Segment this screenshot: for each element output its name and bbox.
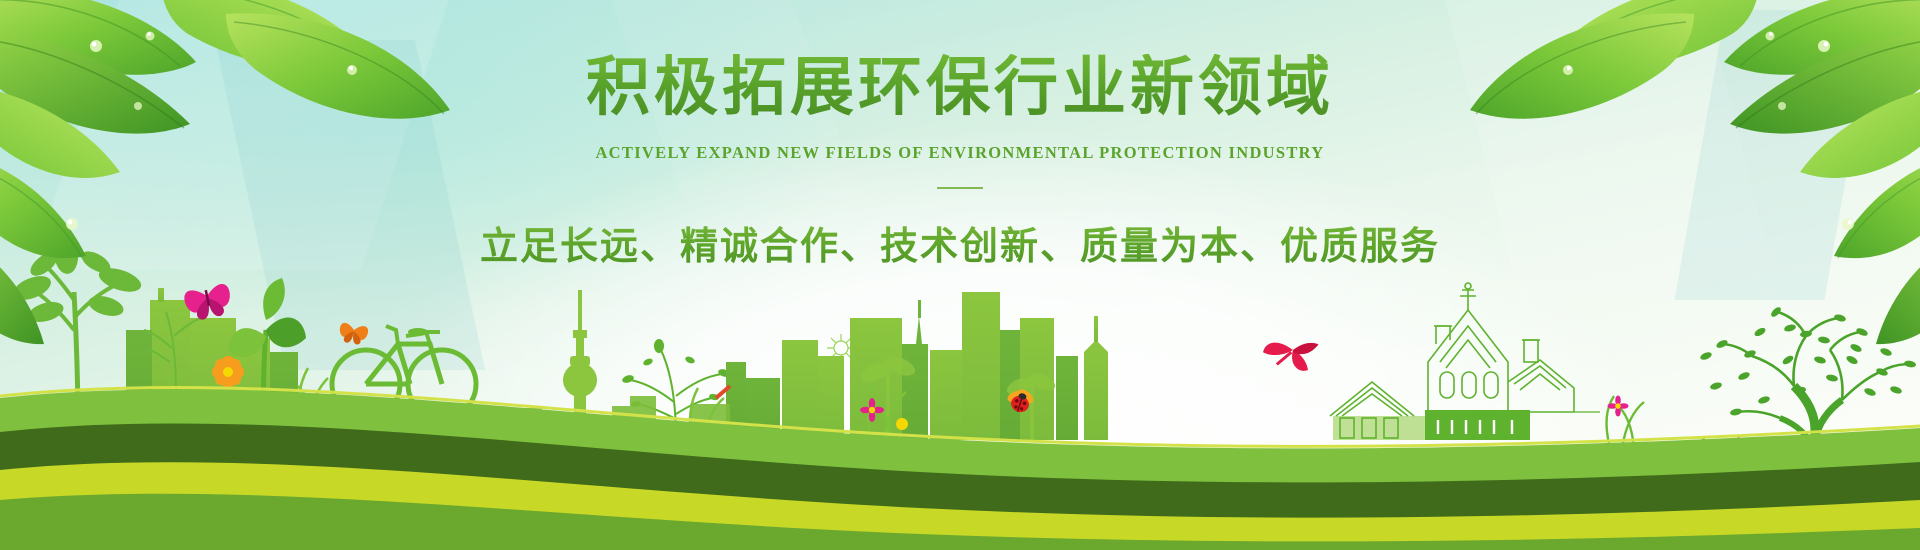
tree-icon — [1699, 306, 1916, 500]
ladybug-icon — [1002, 383, 1038, 416]
city-skyline-icon — [482, 396, 730, 440]
eco-banner: 积极拓展环保行业新领域 ACTIVELY EXPAND NEW FIELDS O… — [0, 0, 1920, 550]
wave-band-yellow-green — [0, 462, 1920, 550]
butterfly-icon — [183, 283, 234, 323]
sprout-icon — [858, 352, 1057, 440]
grass-icon — [298, 368, 328, 430]
wave-band-dark-olive — [0, 423, 1920, 550]
wave-highlight-line — [0, 387, 1920, 446]
reed-icon — [1728, 438, 1740, 450]
bird-icon — [1262, 336, 1322, 376]
slogan-text: 立足长远、精诚合作、技术创新、质量为本、优质服务 — [0, 215, 1920, 270]
tv-tower-icon — [563, 290, 597, 480]
wave-band-mid-green — [0, 494, 1920, 550]
twig-icon — [630, 348, 722, 440]
sunflower-icon — [1634, 446, 1678, 490]
grass-icon — [1607, 396, 1644, 448]
wave-band-light-green — [0, 389, 1920, 489]
bicycle-icon — [332, 326, 476, 418]
page-title: 积极拓展环保行业新领域 — [0, 54, 1920, 121]
banner-text-block: 积极拓展环保行业新领域 ACTIVELY EXPAND NEW FIELDS O… — [0, 54, 1920, 270]
city-skyline-icon — [126, 288, 298, 430]
divider — [937, 187, 983, 189]
city-skyline-icon — [726, 292, 1108, 440]
twig-icon — [144, 312, 202, 392]
house-icon — [1330, 283, 1600, 440]
page-subtitle: ACTIVELY EXPAND NEW FIELDS OF ENVIRONMEN… — [0, 143, 1920, 163]
grass-icon — [1666, 438, 1734, 500]
dandelion-icon — [827, 334, 855, 362]
tree-leaf-icon — [1699, 306, 1916, 417]
sprout-icon — [228, 278, 306, 430]
flower-icon — [212, 356, 244, 388]
bicycle-icon-detail — [352, 328, 456, 420]
twig-leaf-icon — [621, 339, 731, 408]
flower-icon — [716, 386, 908, 430]
grass-icon — [690, 384, 906, 448]
flower-icon — [1608, 396, 1629, 417]
butterfly-icon — [338, 322, 369, 346]
sapling-icon — [36, 268, 118, 430]
